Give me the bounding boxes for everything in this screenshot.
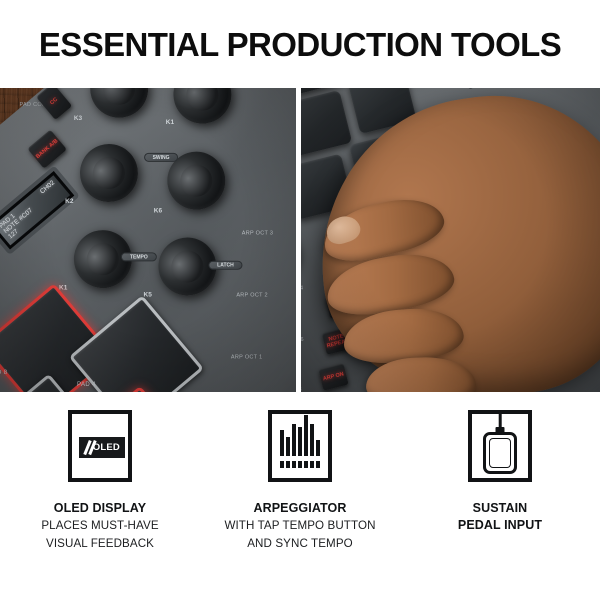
feature-line-1: WITH TAP TEMPO BUTTON (224, 517, 375, 535)
knob-label-k3: K3 (74, 115, 82, 122)
equalizer-base-block (310, 461, 314, 468)
equalizer-base-block (280, 461, 284, 468)
equalizer-bar (316, 440, 320, 456)
photo-left-controller-closeup: PAD CONFIG CC BANK A/B PAD 1 NOTE #C07 1… (0, 88, 296, 392)
equalizer-bar (310, 424, 314, 456)
sustain-pedal-icon (468, 410, 532, 482)
equalizer-base-blocks (280, 461, 320, 468)
feature-sustain-pedal-input: SUSTAIN PEDAL INPUT (400, 410, 600, 600)
controller-body-left: PAD CONFIG CC BANK A/B PAD 1 NOTE #C07 1… (0, 88, 296, 392)
feature-title: ARPEGGIATOR (253, 500, 346, 517)
oled-channel-value: CH02 (39, 179, 56, 195)
feature-line-2: AND SYNC TEMPO (247, 535, 353, 553)
knob-label-k4: K1 (166, 119, 174, 126)
feature-title: OLED DISPLAY (54, 500, 146, 517)
photo-right-usb-connection: AKAI PRO K2 K4 K6 K8 TEMPO 120 (301, 88, 600, 392)
equalizer-bar (280, 430, 284, 456)
knob-label-k6: K6 (154, 207, 162, 214)
shine-slashes-icon (84, 441, 98, 454)
product-feature-graphic: ESSENTIAL PRODUCTION TOOLS PAD CONFIG CC… (0, 0, 600, 600)
feature-arpeggiator: ARPEGGIATOR WITH TAP TEMPO BUTTON AND SY… (200, 410, 400, 600)
feature-line-1: PLACES MUST-HAVE (41, 517, 158, 535)
arpeggiator-equalizer-icon (268, 410, 332, 482)
brand-logo: AKAI PRO (428, 88, 481, 93)
knob-label-k2: K2 (65, 198, 73, 205)
equalizer-base-block (286, 461, 290, 468)
equalizer-bar (292, 424, 296, 456)
oled-screen-icon: OLED (68, 410, 132, 482)
pill-latch: LATCH (208, 261, 242, 270)
knob-k2[interactable] (68, 132, 150, 214)
feature-line-1: PEDAL INPUT (458, 517, 542, 534)
knob-r2[interactable] (301, 225, 304, 281)
feature-row: OLED OLED DISPLAY PLACES MUST-HAVE VISUA… (0, 410, 600, 600)
feature-oled-display: OLED OLED DISPLAY PLACES MUST-HAVE VISUA… (0, 410, 200, 600)
equalizer-base-block (316, 461, 320, 468)
pill-swing: SWING (144, 153, 178, 162)
cc-button[interactable]: CC (36, 88, 72, 120)
equalizer-bar (286, 437, 290, 456)
knob-k4[interactable] (162, 88, 244, 135)
equalizer-bar (298, 427, 302, 456)
equalizer-base-block (304, 461, 308, 468)
knob-k3[interactable] (78, 88, 160, 130)
silk-r-k8: K8 (301, 387, 302, 392)
equalizer-base-block (292, 461, 296, 468)
pad-label-4: PAD 4 (77, 382, 96, 388)
oled-display: PAD 1 NOTE #C07 127 CH02 (0, 165, 80, 255)
page-title: ESSENTIAL PRODUCTION TOOLS (0, 26, 600, 64)
silk-arp-oct-2: ARP OCT 2 (236, 293, 268, 299)
pill-tempo: TEMPO (121, 252, 157, 261)
pad-row2-col2[interactable] (301, 90, 352, 156)
pad-label-8: PAD 8 (0, 370, 8, 376)
feature-line-2: VISUAL FEEDBACK (46, 535, 154, 553)
pedal-body-icon (483, 432, 517, 474)
silk-r-k6: K6 (301, 337, 304, 343)
silk-r-k4: K4 (301, 285, 303, 291)
pad-4[interactable] (69, 295, 204, 392)
silk-arp-oct-3: ARP OCT 3 (242, 231, 274, 237)
bank-ab-button[interactable]: BANK A/B (27, 130, 67, 169)
feature-title: SUSTAIN (473, 500, 528, 517)
equalizer-bars (280, 412, 320, 456)
arp-on-button[interactable]: ARP ON (318, 363, 349, 391)
silk-arp-oct-1: ARP OCT 1 (231, 355, 263, 361)
equalizer-bar (304, 415, 308, 456)
photo-band: PAD CONFIG CC BANK A/B PAD 1 NOTE #C07 1… (0, 88, 600, 392)
equalizer-base-block (298, 461, 302, 468)
